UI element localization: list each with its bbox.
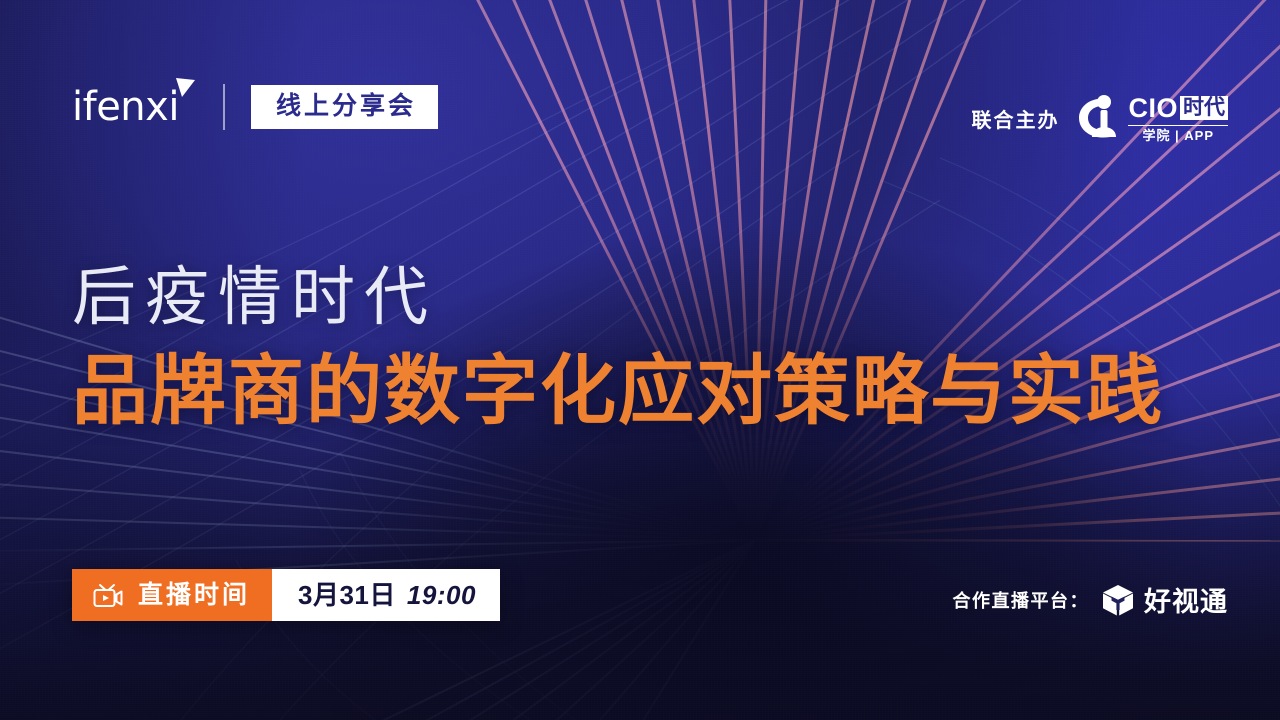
cohost-label: 联合主办 [971,104,1059,133]
live-time-label: 直播时间 [138,583,250,608]
cio-person-circle-icon [1077,93,1123,143]
cio-sub-label: 学院 | APP [1128,125,1228,142]
kicker-text: 后疫情时代 [72,264,1212,332]
live-time-value-block: 3月31日 19:00 [272,569,500,621]
live-date-value: 3月31日 [298,582,396,608]
partner-brand: 好视通 [1101,580,1228,619]
main-title: 品牌商的数字化应对策略与实践 [72,352,1212,432]
cio-name-row: CIO 时代 [1128,95,1228,122]
brand-group: ifenxi 线上分享会 [72,84,438,130]
live-time-bar: 直播时间 3月31日 19:00 [72,569,500,621]
partner-platform-name: 好视通 [1144,580,1228,619]
cube-box-icon [1101,583,1135,617]
cio-era-logo: CIO 时代 学院 | APP [1077,93,1228,143]
online-sharing-badge: 线上分享会 [251,85,438,129]
cio-name-era: 时代 [1180,96,1228,120]
webinar-poster: ifenxi 线上分享会 联合主办 CIO [0,0,1280,720]
live-tv-play-icon [92,580,124,610]
partner-platform-group: 合作直播平台： 好视通 [953,580,1229,619]
partner-platform-label: 合作直播平台： [953,587,1090,613]
poster-header: ifenxi 线上分享会 联合主办 CIO [0,0,1280,190]
cio-name-main: CIO [1128,95,1178,122]
swoosh-arrow-icon [173,75,199,101]
ifenxi-logo: ifenxi [72,87,197,127]
headline-block: 后疫情时代 品牌商的数字化应对策略与实践 [72,264,1212,432]
live-time-label-block: 直播时间 [72,569,272,621]
cio-wordmark: CIO 时代 学院 | APP [1128,95,1228,142]
cohost-group: 联合主办 CIO 时代 学院 | APP [971,93,1228,143]
ifenxi-wordmark: ifenxi [72,84,179,130]
brand-divider [223,84,225,130]
live-clock-value: 19:00 [407,582,476,608]
